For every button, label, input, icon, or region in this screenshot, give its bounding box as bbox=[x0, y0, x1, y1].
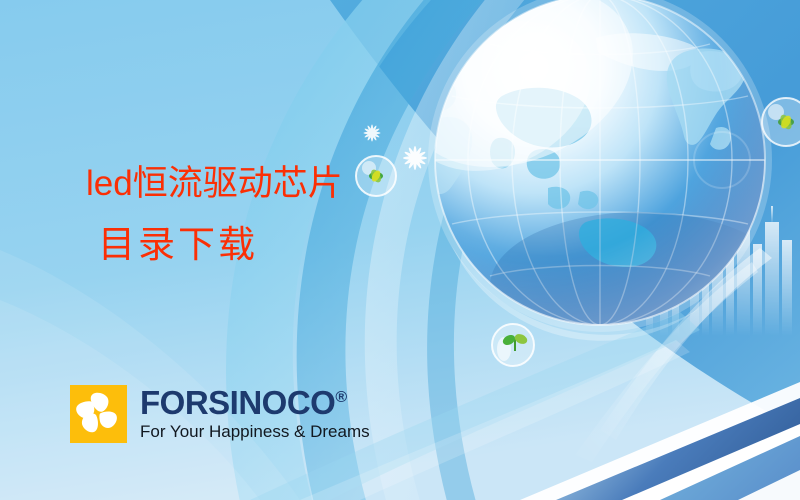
headline-text: led恒流驱动芯片 目录下载 bbox=[86, 166, 343, 264]
headline-line-2: 目录下载 bbox=[98, 227, 343, 264]
brand-tagline: For Your Happiness & Dreams bbox=[140, 422, 370, 442]
company-logo: FORSINOCO® For Your Happiness & Dreams bbox=[70, 385, 370, 443]
logo-wordmark: FORSINOCO® For Your Happiness & Dreams bbox=[140, 385, 370, 442]
headline-line-1: led恒流驱动芯片 bbox=[86, 166, 343, 201]
registered-trademark-icon: ® bbox=[335, 389, 347, 406]
four-petal-pinwheel-mark bbox=[70, 385, 127, 443]
promotional-banner: led恒流驱动芯片 目录下载 FORSINOCO® For Your Happi… bbox=[0, 0, 800, 500]
bubble-with-pinwheel bbox=[356, 156, 396, 196]
bubble-edge-right bbox=[762, 98, 800, 146]
brand-name: FORSINOCO® bbox=[140, 386, 370, 419]
brand-text: FORSINOCO bbox=[140, 384, 335, 421]
bubble-with-sprout bbox=[492, 324, 534, 366]
